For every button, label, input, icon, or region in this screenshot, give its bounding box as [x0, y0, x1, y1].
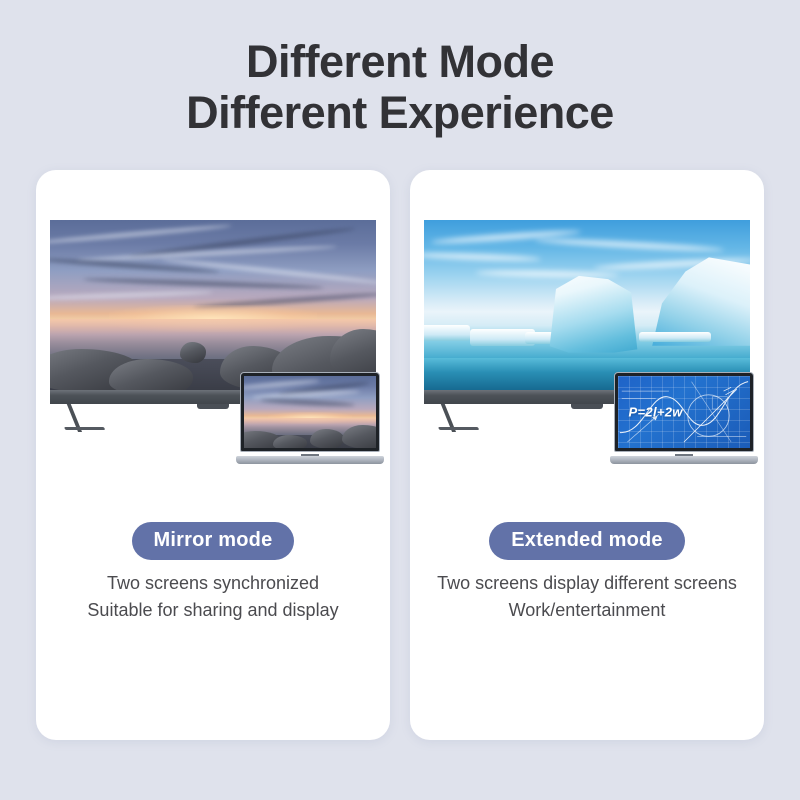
- badge-row-extended: Extended mode: [410, 522, 764, 560]
- device-scene-mirror: [36, 210, 390, 470]
- page-title-line-2: Different Experience: [0, 87, 800, 138]
- caption-mirror-line-2: Suitable for sharing and display: [36, 597, 390, 624]
- caption-mirror-line-1: Two screens synchronized: [36, 570, 390, 597]
- status-badge-mirror-mode: Mirror mode: [132, 522, 295, 560]
- laptop-extended: P=2l+2w: [610, 372, 758, 464]
- tv-leg-left: [441, 404, 494, 430]
- laptop-base: [236, 456, 384, 464]
- tv-logo-nub: [571, 404, 603, 409]
- status-badge-extended-mode: Extended mode: [489, 522, 685, 560]
- caption-extended-line-2: Work/entertainment: [410, 597, 764, 624]
- artwork-sunset-seascape-mirrored: [244, 376, 376, 448]
- tv-screen-mirror: [50, 220, 376, 390]
- mode-card-mirror[interactable]: Mirror mode Two screens synchronized Sui…: [36, 170, 390, 740]
- laptop-lid: [240, 372, 380, 452]
- badge-row-mirror: Mirror mode: [36, 522, 390, 560]
- laptop-screen-mirror: [244, 376, 376, 448]
- laptop-base: [610, 456, 758, 464]
- laptop-screen-extended: P=2l+2w: [618, 376, 750, 448]
- artwork-sunset-seascape: [50, 220, 376, 390]
- mode-card-list: Mirror mode Two screens synchronized Sui…: [36, 170, 764, 740]
- artwork-blueprint-formulas: P=2l+2w: [618, 376, 750, 448]
- device-scene-extended: P=2l+2w: [410, 210, 764, 470]
- artwork-iceberg-glacier: [424, 220, 750, 390]
- tv-screen-extended: [424, 220, 750, 390]
- caption-mirror: Two screens synchronized Suitable for sh…: [36, 570, 390, 624]
- page-title: Different Mode Different Experience: [0, 36, 800, 138]
- page-title-line-1: Different Mode: [0, 36, 800, 87]
- laptop-formula-text: P=2l+2w: [629, 405, 683, 420]
- tv-logo-nub: [197, 404, 229, 409]
- mode-card-extended[interactable]: P=2l+2w Extended mode Two screens displa…: [410, 170, 764, 740]
- caption-extended-line-1: Two screens display different screens: [410, 570, 764, 597]
- caption-extended: Two screens display different screens Wo…: [410, 570, 764, 624]
- tv-leg-left: [67, 404, 120, 430]
- laptop-lid: P=2l+2w: [614, 372, 754, 452]
- laptop-mirror: [236, 372, 384, 464]
